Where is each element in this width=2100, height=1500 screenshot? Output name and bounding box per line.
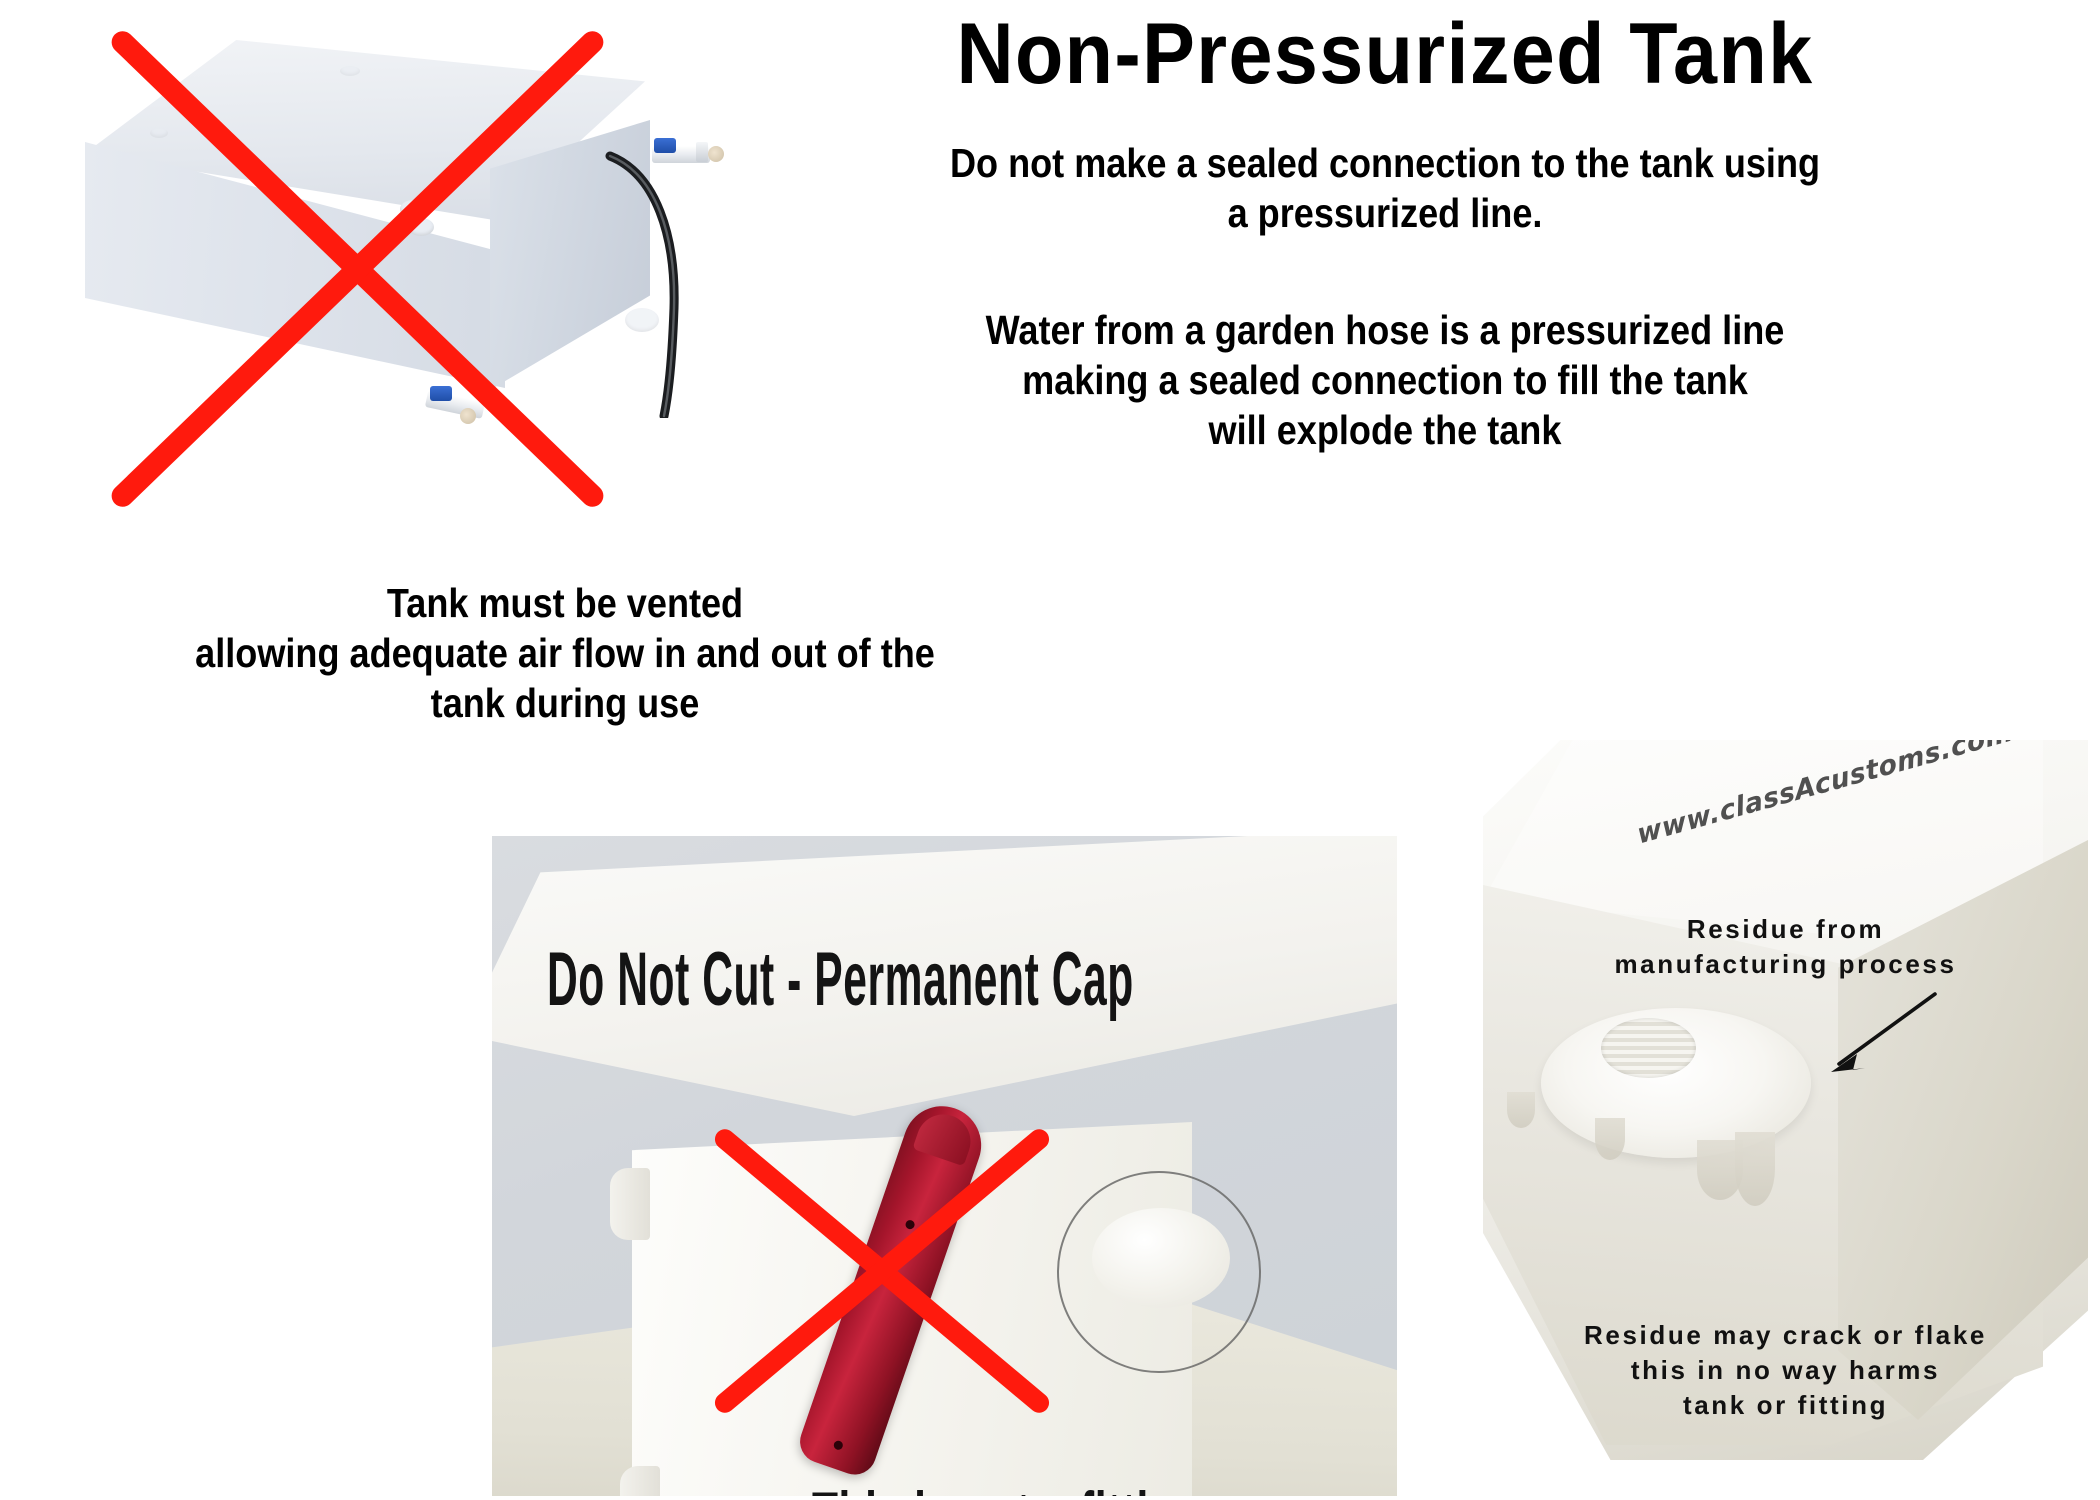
tank-corner-boss (625, 308, 659, 332)
residue-drip (1507, 1092, 1535, 1128)
residue-label-bottom-line-1: Residue may crack or flake (1483, 1318, 2088, 1353)
residue-label-bottom-line-3: tank or fitting (1483, 1388, 2088, 1423)
utility-knife-rivet (904, 1219, 915, 1230)
residue-label-bottom-line-2: this in no way harms (1483, 1353, 2088, 1388)
warning-sealed-line-2: a pressurized line. (809, 188, 1962, 238)
warning-venting: Tank must be vented allowing adequate ai… (77, 578, 1054, 728)
residue-label-top-line-2: manufacturing process (1483, 947, 2088, 982)
utility-knife-tip (912, 1107, 977, 1166)
warning-venting-line-1: Tank must be vented (77, 578, 1054, 628)
residue-label-top-line-1: Residue from (1483, 912, 2088, 947)
warning-venting-line-3: tank during use (77, 678, 1054, 728)
poster-canvas: Non-Pressurized Tank Do not make a seale… (0, 0, 2100, 1500)
tank-upper-valve-collar (696, 142, 708, 162)
tank-upper-valve-handle (654, 138, 676, 153)
tank-upper-valve-outlet (708, 146, 724, 162)
cap-panel-tab (610, 1168, 650, 1240)
tank-corner-boss (150, 128, 168, 138)
residue-label-bottom: Residue may crack or flake this in no wa… (1483, 1318, 2088, 1422)
utility-knife-rivet (833, 1440, 844, 1451)
permanent-cap-photo: Do Not Cut - Permanent Cap This is not a… (492, 836, 1397, 1496)
warning-venting-line-2: allowing adequate air flow in and out of… (77, 628, 1054, 678)
warning-hose-line-1: Water from a garden hose is a pressurize… (809, 305, 1962, 355)
cap-caption-bottom: This is not a fitting (812, 1476, 1202, 1496)
warning-garden-hose: Water from a garden hose is a pressurize… (809, 305, 1962, 455)
tank-lower-valve-handle (430, 386, 452, 401)
residue-drip (1595, 1118, 1625, 1160)
tank-fitting-threads (1601, 1018, 1696, 1078)
tank-photo (30, 8, 790, 528)
page-title: Non-Pressurized Tank (746, 6, 2025, 102)
tank-lower-valve-outlet (460, 408, 476, 424)
warning-hose-line-2: making a sealed connection to fill the t… (809, 355, 1962, 405)
residue-drip (1735, 1132, 1775, 1206)
warning-bold-prefix: Do not (950, 140, 1064, 186)
warning-sealed-line-1: Do not make a sealed connection to the t… (809, 138, 1962, 188)
residue-photo: www.classAcustoms.com Residue from manuf… (1483, 740, 2088, 1500)
permanent-cap-circle-annotation (1057, 1171, 1261, 1373)
warning-sealed-connection: Do not make a sealed connection to the t… (809, 138, 1962, 238)
tank-top-vent-boss (340, 66, 360, 76)
warning-hose-line-3: will explode the tank (809, 405, 1962, 455)
residue-label-top: Residue from manufacturing process (1483, 912, 2088, 982)
cap-panel-tab (620, 1466, 660, 1496)
cap-caption-top: Do Not Cut - Permanent Cap (547, 936, 1134, 1023)
residue-arrow-icon (1813, 988, 1943, 1080)
warning-sealed-rest: make a sealed connection to the tank usi… (1064, 140, 1820, 186)
